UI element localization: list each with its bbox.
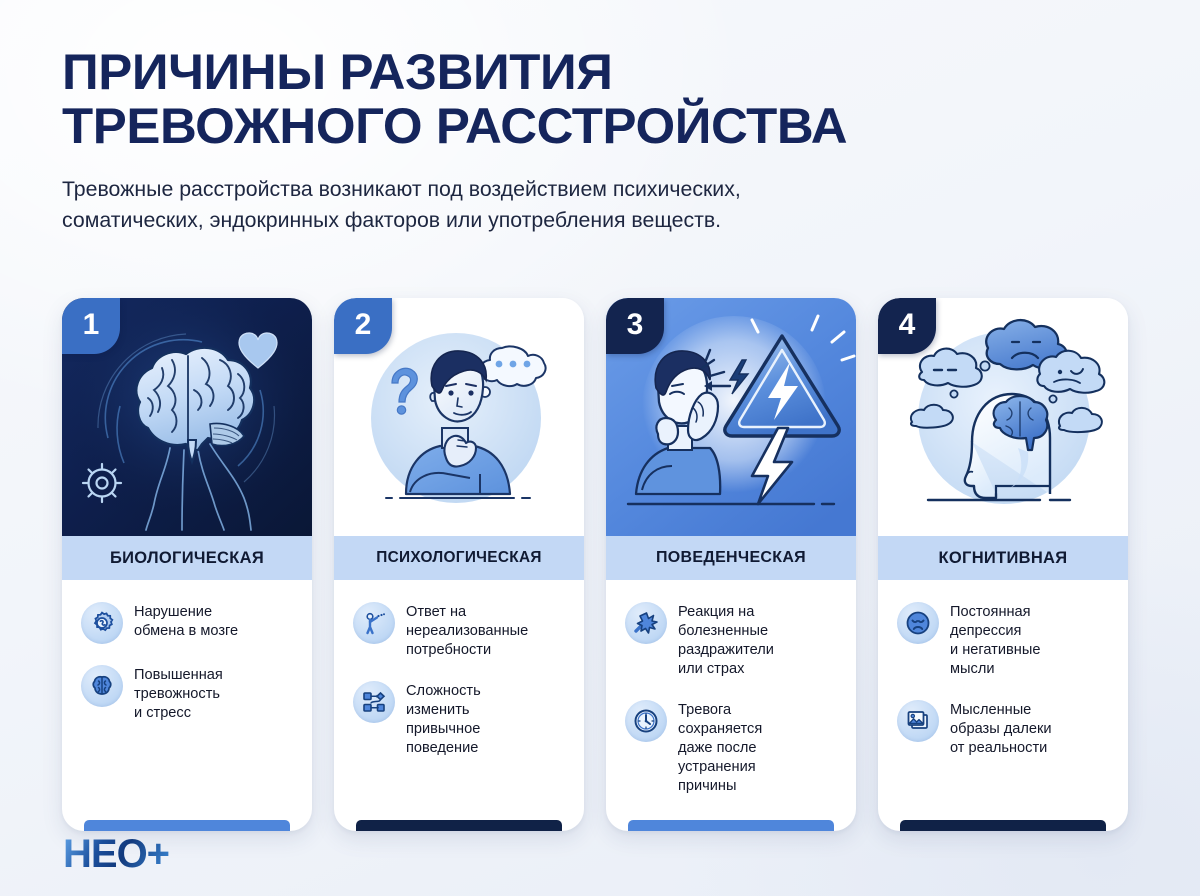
subtitle-line-1: Тревожные расстройства возникают под воз… xyxy=(62,174,1012,205)
bullet-line: Реакция на xyxy=(678,603,774,622)
bullet-text: Постоянная депрессия и негативные мысли xyxy=(950,602,1040,679)
flowchart-icon xyxy=(353,681,395,723)
card-psychological[interactable]: 2 ПСИХОЛОГИЧЕСКАЯ xyxy=(334,298,584,831)
bullet-line: образы далеки xyxy=(950,720,1052,739)
card-2-accent-bar xyxy=(356,820,562,831)
brand-logo: НЕО+ xyxy=(63,834,169,874)
bullet-line: и стресс xyxy=(134,704,223,723)
card-3-number-badge: 3 xyxy=(606,298,664,354)
bullet-line: обмена в мозге xyxy=(134,622,238,641)
bullet-line: Нарушение xyxy=(134,603,238,622)
bullet-line: депрессия xyxy=(950,622,1040,641)
card-3-illustration: 3 xyxy=(606,298,856,536)
bullet-item: Нарушение обмена в мозге xyxy=(81,602,295,644)
card-4-illustration: 4 xyxy=(878,298,1128,536)
bullet-line: сохраняется xyxy=(678,720,762,739)
card-1-label-text: БИОЛОГИЧЕСКАЯ xyxy=(110,549,264,568)
card-1-number-badge: 1 xyxy=(62,298,120,354)
card-2-number: 2 xyxy=(355,310,372,340)
brain-icon xyxy=(81,665,123,707)
title-line-2: ТРЕВОЖНОГО РАССТРОЙСТВА xyxy=(62,100,1082,154)
card-4-label-text: КОГНИТИВНАЯ xyxy=(939,549,1068,568)
bullet-line: мысли xyxy=(950,660,1040,679)
subtitle-line-2: соматических, эндокринных факторов или у… xyxy=(62,205,1012,236)
card-1-accent-bar xyxy=(84,820,290,831)
images-stack-icon xyxy=(897,700,939,742)
card-2-label: ПСИХОЛОГИЧЕСКАЯ xyxy=(334,536,584,580)
card-2-number-badge: 2 xyxy=(334,298,392,354)
bullet-line: Постоянная xyxy=(950,603,1040,622)
logo-text: НЕО+ xyxy=(63,834,169,874)
sad-face-icon xyxy=(897,602,939,644)
card-1-illustration: 1 xyxy=(62,298,312,536)
card-4-label: КОГНИТИВНАЯ xyxy=(878,536,1128,580)
bullet-line: и негативные xyxy=(950,641,1040,660)
card-2-illustration: 2 xyxy=(334,298,584,536)
bullet-line: изменить xyxy=(406,701,481,720)
card-3-accent-bar xyxy=(628,820,834,831)
card-3-number: 3 xyxy=(627,310,644,340)
bullet-line: привычное xyxy=(406,720,481,739)
bullet-text: Повышенная тревожность и стресс xyxy=(134,665,223,723)
bullet-line: потребности xyxy=(406,641,528,660)
bullet-line: причины xyxy=(678,777,762,796)
bullet-line: Ответ на xyxy=(406,603,528,622)
card-1-bullets: Нарушение обмена в мозге xyxy=(62,580,312,811)
bullet-item: Мысленные образы далеки от реальности xyxy=(897,700,1111,758)
bullet-line: Тревога xyxy=(678,701,762,720)
card-biological[interactable]: 1 БИОЛОГИЧЕСКАЯ xyxy=(62,298,312,831)
card-4-bullets: Постоянная депрессия и негативные мысли xyxy=(878,580,1128,811)
bullet-line: даже после xyxy=(678,739,762,758)
bullet-text: Ответ на нереализованные потребности xyxy=(406,602,528,660)
card-behavioral[interactable]: 3 ПОВЕДЕНЧЕСКАЯ Реакция на боле xyxy=(606,298,856,831)
bullet-item: Ответ на нереализованные потребности xyxy=(353,602,567,660)
card-3-bullets: Реакция на болезненные раздражители или … xyxy=(606,580,856,811)
burst-impact-icon xyxy=(625,602,667,644)
bullet-line: поведение xyxy=(406,739,481,758)
card-2-label-text: ПСИХОЛОГИЧЕСКАЯ xyxy=(376,549,542,567)
person-reaching-icon xyxy=(353,602,395,644)
bullet-line: от реальности xyxy=(950,739,1052,758)
bullet-item: Постоянная депрессия и негативные мысли xyxy=(897,602,1111,679)
card-4-number: 4 xyxy=(899,310,916,340)
bullet-line: или страх xyxy=(678,660,774,679)
bullet-text: Реакция на болезненные раздражители или … xyxy=(678,602,774,679)
card-2-bullets: Ответ на нереализованные потребности xyxy=(334,580,584,811)
card-3-label-text: ПОВЕДЕНЧЕСКАЯ xyxy=(656,549,806,567)
bullet-line: нереализованные xyxy=(406,622,528,641)
bullet-item: Тревога сохраняется даже после устранени… xyxy=(625,700,839,796)
page-subtitle: Тревожные расстройства возникают под воз… xyxy=(62,174,1012,235)
card-4-accent-bar xyxy=(900,820,1106,831)
bullet-item: Повышенная тревожность и стресс xyxy=(81,665,295,723)
bullet-item: Сложность изменить привычное поведение xyxy=(353,681,567,758)
gear-metabolism-icon xyxy=(81,602,123,644)
bullet-text: Нарушение обмена в мозге xyxy=(134,602,238,641)
bullet-line: Мысленные xyxy=(950,701,1052,720)
bullet-item: Реакция на болезненные раздражители или … xyxy=(625,602,839,679)
bullet-line: тревожность xyxy=(134,685,223,704)
bullet-line: Повышенная xyxy=(134,666,223,685)
bullet-line: Сложность xyxy=(406,682,481,701)
page-title: ПРИЧИНЫ РАЗВИТИЯ ТРЕВОЖНОГО РАССТРОЙСТВА xyxy=(62,46,1082,153)
clock-icon xyxy=(625,700,667,742)
cards-container: 1 БИОЛОГИЧЕСКАЯ xyxy=(62,298,1140,831)
card-3-label: ПОВЕДЕНЧЕСКАЯ xyxy=(606,536,856,580)
card-cognitive[interactable]: 4 КОГНИТИВНАЯ xyxy=(878,298,1128,831)
bullet-line: раздражители xyxy=(678,641,774,660)
card-4-number-badge: 4 xyxy=(878,298,936,354)
infographic-page: ПРИЧИНЫ РАЗВИТИЯ ТРЕВОЖНОГО РАССТРОЙСТВА… xyxy=(0,0,1200,896)
bullet-line: устранения xyxy=(678,758,762,777)
bullet-text: Сложность изменить привычное поведение xyxy=(406,681,481,758)
bullet-text: Тревога сохраняется даже после устранени… xyxy=(678,700,762,796)
bullet-text: Мысленные образы далеки от реальности xyxy=(950,700,1052,758)
card-1-label: БИОЛОГИЧЕСКАЯ xyxy=(62,536,312,580)
bullet-line: болезненные xyxy=(678,622,774,641)
card-1-number: 1 xyxy=(83,310,100,340)
header: ПРИЧИНЫ РАЗВИТИЯ ТРЕВОЖНОГО РАССТРОЙСТВА… xyxy=(62,46,1062,235)
title-line-1: ПРИЧИНЫ РАЗВИТИЯ xyxy=(62,44,612,100)
